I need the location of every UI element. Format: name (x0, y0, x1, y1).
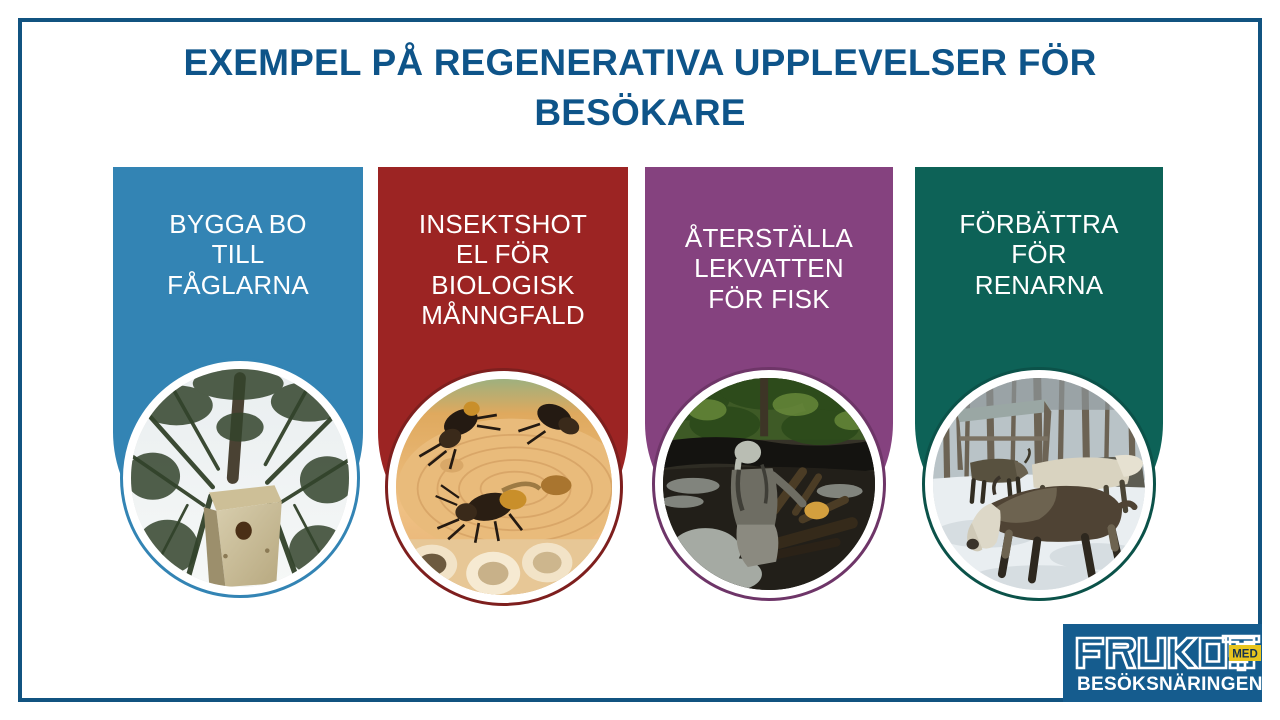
card-insektshotel-for-biologisk-manngfald[interactable]: INSEKTSHOT EL FÖR BIOLOGISK MÅNNGFALD (378, 167, 628, 587)
card-title: FÖRBÄTTRA FÖR RENARNA (915, 209, 1163, 300)
card-photo-frame (652, 367, 886, 601)
card-photo-frame (922, 367, 1156, 601)
card-row: BYGGA BO TILL FÅGLARNA (0, 0, 1280, 720)
birdhouse-in-pine-forest-photo (131, 369, 349, 587)
stream-restoration-photo (663, 378, 875, 590)
frukost-med-besoksnaringen-logo[interactable]: MED BESÖKSNÄRINGEN FRUKOST MED BESÖKSNÄR… (1063, 624, 1262, 702)
card-photo-frame (120, 358, 360, 598)
card-title: ÅTERSTÄLLA LEKVATTEN FÖR FISK (645, 223, 893, 314)
card-photo-frame (385, 368, 623, 606)
reindeer-in-snowy-forest-photo (933, 378, 1145, 590)
card-bygga-bo-till-faglarna[interactable]: BYGGA BO TILL FÅGLARNA (113, 167, 363, 587)
slide-canvas: EXEMPEL PÅ REGENERATIVA UPPLEVELSER FÖR … (0, 0, 1280, 720)
card-forbattra-for-renarna[interactable]: FÖRBÄTTRA FÖR RENARNA (915, 167, 1163, 587)
card-title: BYGGA BO TILL FÅGLARNA (113, 209, 363, 300)
solitary-bees-on-insect-hotel-photo (396, 379, 612, 595)
svg-text:MED: MED (1232, 649, 1258, 661)
svg-text:BESÖKSNÄRINGEN: BESÖKSNÄRINGEN (1077, 674, 1262, 695)
card-title: INSEKTSHOT EL FÖR BIOLOGISK MÅNNGFALD (378, 209, 628, 331)
card-aterstalla-lekvatten-for-fisk[interactable]: ÅTERSTÄLLA LEKVATTEN FÖR FISK (645, 167, 893, 587)
